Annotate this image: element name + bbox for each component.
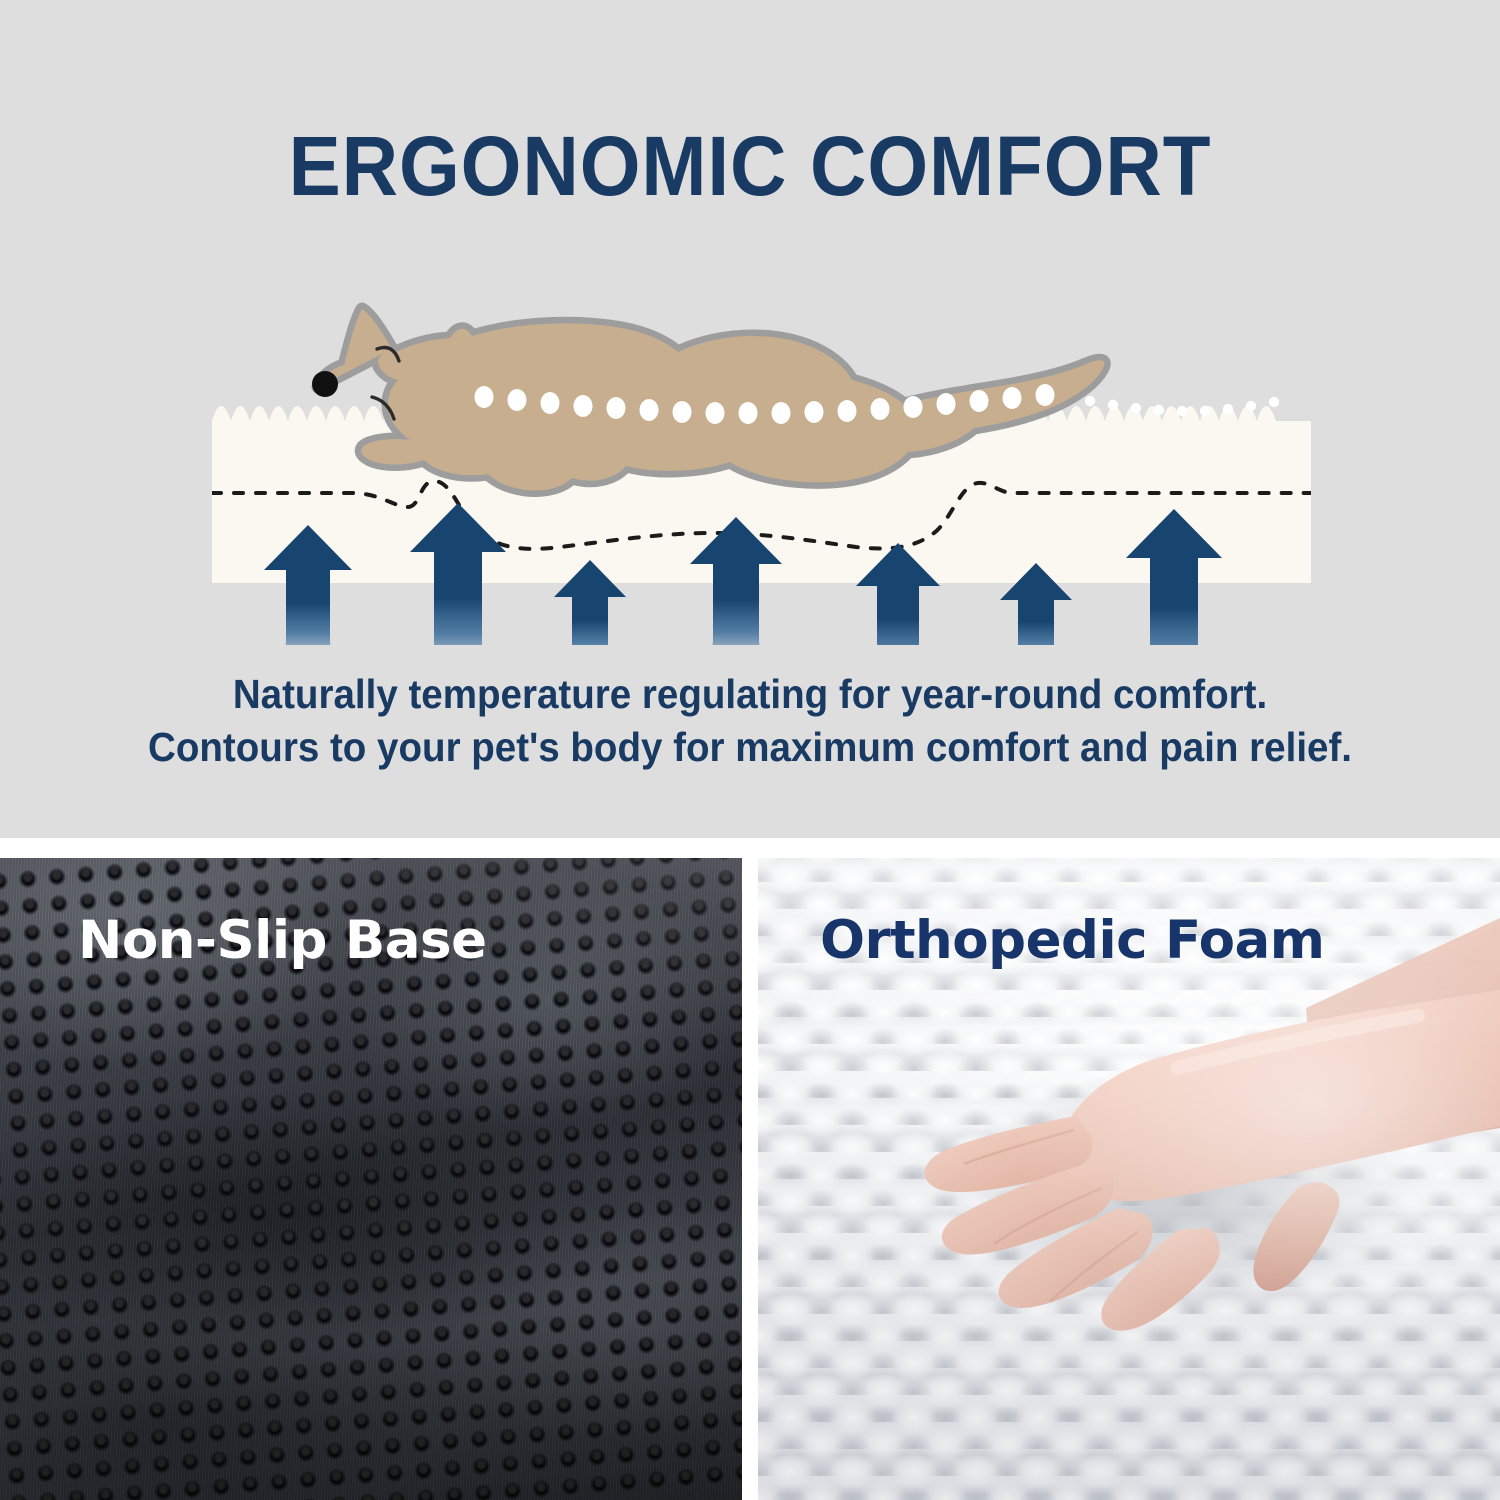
panel-non-slip-base: Non-Slip Base (0, 858, 742, 1500)
panel-orthopedic-foam: Orthopedic Foam (758, 858, 1500, 1500)
feature-panels: Non-Slip Base (0, 858, 1500, 1500)
panel-label-non-slip-base: Non-Slip Base (78, 910, 487, 971)
hero-section: ERGONOMIC COMFORT (0, 0, 1500, 838)
dog-nose (312, 371, 338, 397)
page-title: ERGONOMIC COMFORT (53, 118, 1448, 215)
illustration-svg (0, 245, 1500, 645)
infographic-page: ERGONOMIC COMFORT (0, 0, 1500, 1500)
subtitle-line-1: Naturally temperature regulating for yea… (45, 668, 1455, 721)
ergonomic-illustration (0, 245, 1500, 645)
subtitle-line-2: Contours to your pet's body for maximum … (45, 721, 1455, 774)
hero-subtitle: Naturally temperature regulating for yea… (45, 668, 1455, 774)
panel-label-orthopedic-foam: Orthopedic Foam (820, 910, 1325, 971)
